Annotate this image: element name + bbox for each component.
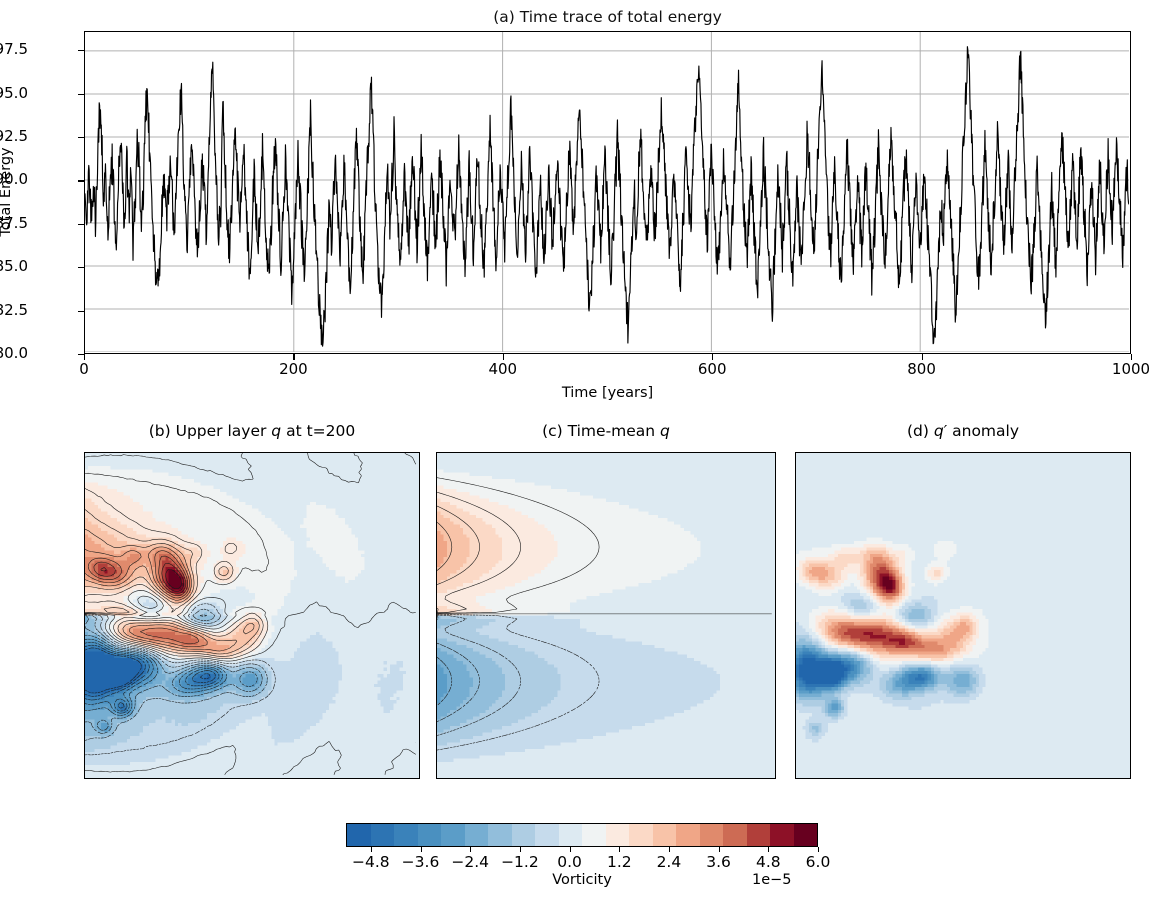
b-field-svg xyxy=(85,453,419,778)
panel-c-title-symbol: q xyxy=(660,422,670,440)
panel-a-xtick-label: 1000 xyxy=(1091,360,1165,378)
colorbar-tick-mark xyxy=(371,847,372,852)
panel-c-title: (c) Time-mean q xyxy=(436,422,776,440)
panel-a-ytick-mark xyxy=(78,94,84,95)
panel-a-xtick-mark xyxy=(1131,354,1132,360)
colorbar-tick-mark xyxy=(719,847,720,852)
panel-a-ytick-label: 90.0 xyxy=(0,170,28,188)
panel-a-xtick-mark xyxy=(84,354,85,360)
panel-a-xlabel: Time [years] xyxy=(84,385,1131,401)
panel-a-xtick-mark xyxy=(503,354,504,360)
panel-d-title-prefix: (d) xyxy=(907,422,934,440)
panel-a-ytick-label: 80.0 xyxy=(0,344,28,362)
panel-a-xtick-label: 0 xyxy=(44,360,124,378)
colorbar-tick-mark xyxy=(470,847,471,852)
panel-d-title-symbol: q′ xyxy=(934,422,947,440)
colorbar-band xyxy=(653,824,677,846)
colorbar-band xyxy=(676,824,700,846)
colorbar-band xyxy=(441,824,465,846)
panel-b-title-symbol: q xyxy=(271,422,281,440)
panel-a-ytick-mark xyxy=(78,50,84,51)
panel-a-xtick-label: 400 xyxy=(463,360,543,378)
figure-canvas: (a) Time trace of total energy Total Ene… xyxy=(0,0,1165,898)
panel-a-ytick-label: 95.0 xyxy=(0,84,28,102)
d-field-svg xyxy=(796,453,1130,778)
panel-b-title: (b) Upper layer q at t=200 xyxy=(84,422,420,440)
colorbar-band xyxy=(535,824,559,846)
colorbar-band xyxy=(465,824,489,846)
colorbar-tick-mark xyxy=(818,847,819,852)
panel-c-map xyxy=(436,452,776,779)
colorbar-band xyxy=(371,824,395,846)
panel-a-ytick-mark xyxy=(78,137,84,138)
colorbar-tick-label: 6.0 xyxy=(783,853,853,871)
colorbar-band xyxy=(606,824,630,846)
panel-a-ytick-label: 85.0 xyxy=(0,257,28,275)
colorbar-band xyxy=(700,824,724,846)
panel-d-title-suffix: anomaly xyxy=(947,422,1019,440)
panel-a-ytick-label: 82.5 xyxy=(0,301,28,319)
panel-d-map xyxy=(795,452,1131,779)
panel-a-ytick-mark xyxy=(78,180,84,181)
colorbar-tick-mark xyxy=(619,847,620,852)
c-field-svg xyxy=(437,453,775,778)
panel-a-plot-area xyxy=(84,31,1131,354)
panel-a-ytick-mark xyxy=(78,267,84,268)
panel-a-ytick-label: 92.5 xyxy=(0,127,28,145)
colorbar-band xyxy=(747,824,771,846)
panel-a-ytick-mark xyxy=(78,224,84,225)
colorbar-band xyxy=(418,824,442,846)
panel-c-title-prefix: (c) Time-mean xyxy=(542,422,660,440)
panel-a-xtick-mark xyxy=(922,354,923,360)
panel-a-xtick-label: 800 xyxy=(882,360,962,378)
colorbar-band xyxy=(488,824,512,846)
panel-a-ytick-label: 97.5 xyxy=(0,40,28,58)
colorbar xyxy=(346,823,818,847)
filled-contours xyxy=(85,453,419,778)
filled-contours xyxy=(796,453,1130,778)
panel-d-title: (d) q′ anomaly xyxy=(795,422,1131,440)
panel-b-title-suffix: at t=200 xyxy=(281,422,355,440)
panel-b-title-prefix: (b) Upper layer xyxy=(149,422,272,440)
colorbar-offset-text: 1e−5 xyxy=(752,872,792,888)
time-series-svg xyxy=(85,32,1129,352)
colorbar-band xyxy=(723,824,747,846)
colorbar-tick-mark xyxy=(570,847,571,852)
colorbar-tick-mark xyxy=(669,847,670,852)
panel-a-xtick-mark xyxy=(293,354,294,360)
panel-b-map xyxy=(84,452,420,779)
total-energy-line xyxy=(85,47,1129,346)
colorbar-band xyxy=(629,824,653,846)
colorbar-band xyxy=(794,824,818,846)
colorbar-band xyxy=(770,824,794,846)
colorbar-band xyxy=(559,824,583,846)
panel-a-ytick-mark xyxy=(78,311,84,312)
colorbar-tick-mark xyxy=(520,847,521,852)
colorbar-band xyxy=(347,824,371,846)
colorbar-tick-mark xyxy=(421,847,422,852)
panel-a-ytick-label: 87.5 xyxy=(0,214,28,232)
panel-a-title: (a) Time trace of total energy xyxy=(84,8,1131,26)
colorbar-label: Vorticity xyxy=(346,872,818,888)
colorbar-band xyxy=(582,824,606,846)
panel-a-xtick-label: 600 xyxy=(672,360,752,378)
colorbar-band xyxy=(512,824,536,846)
panel-a-xtick-label: 200 xyxy=(253,360,333,378)
colorbar-tick-mark xyxy=(768,847,769,852)
panel-a-xtick-mark xyxy=(712,354,713,360)
colorbar-band xyxy=(394,824,418,846)
